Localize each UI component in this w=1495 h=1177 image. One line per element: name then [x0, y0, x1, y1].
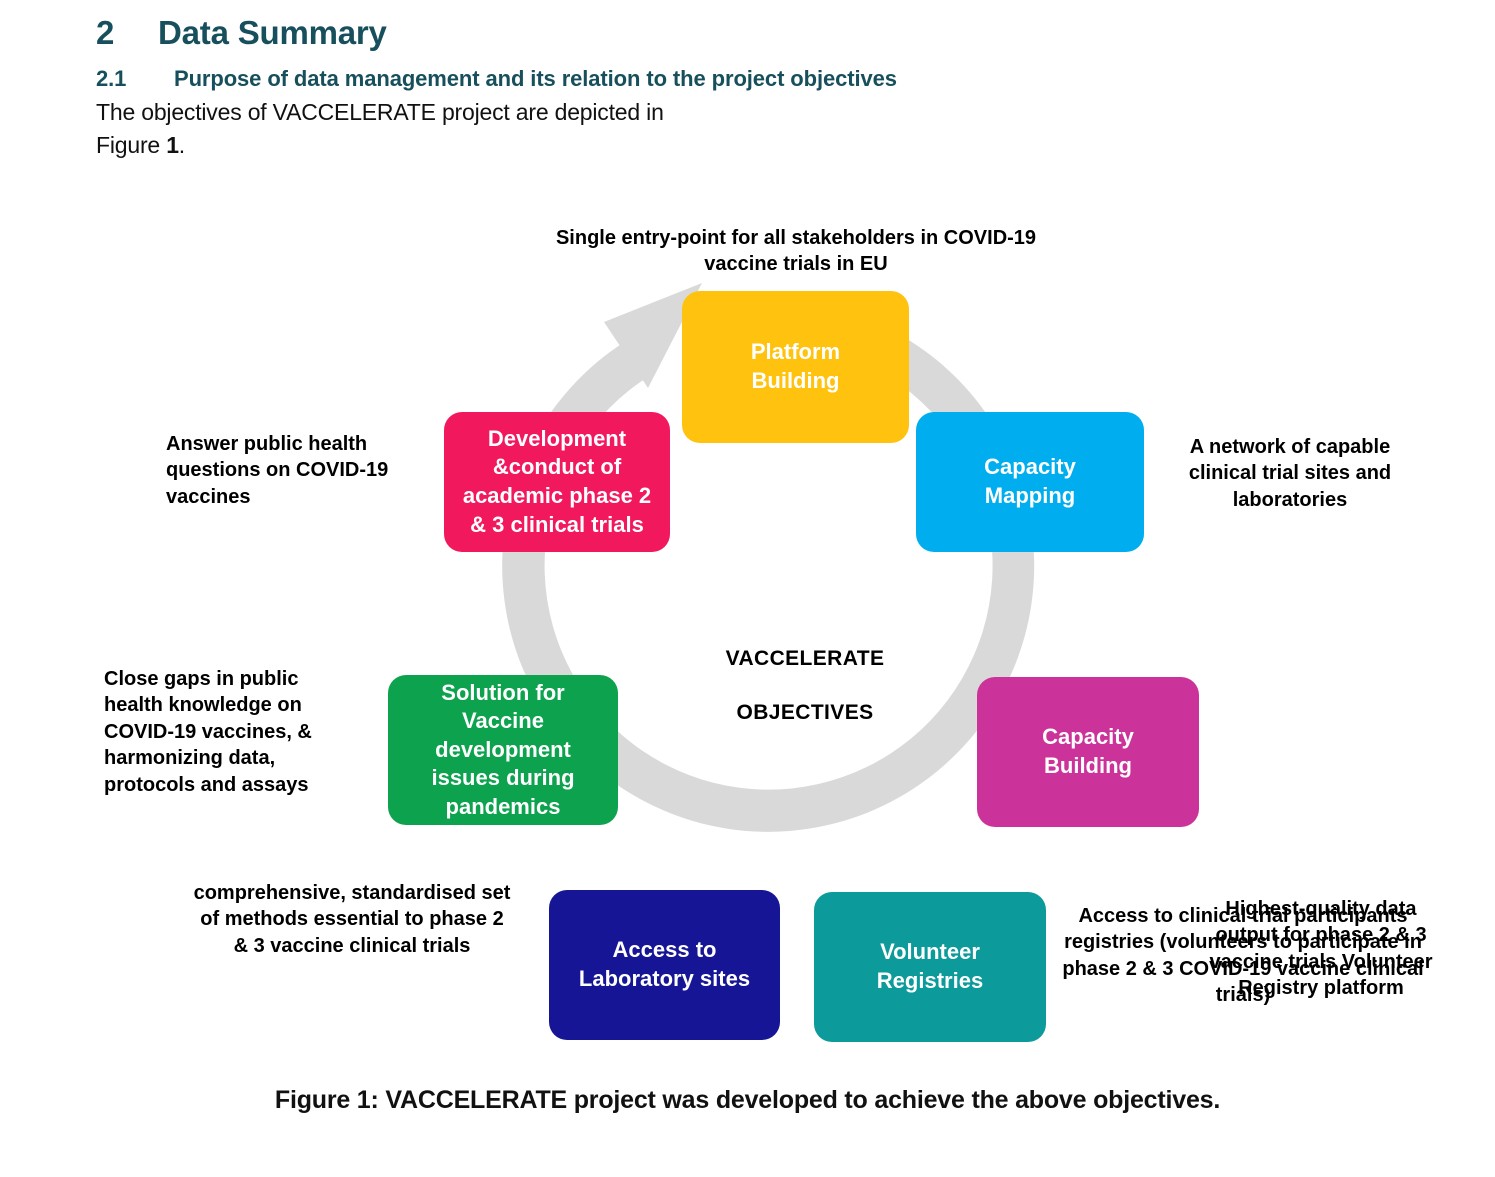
subsection-heading: 2.1 Purpose of data management and its r…	[96, 66, 1296, 92]
callout-access-laboratory-sites: comprehensive, standardised set of metho…	[192, 880, 512, 959]
node-capacity-building-label: Capacity Building	[1042, 723, 1134, 780]
node-capacity-building[interactable]: Capacity Building	[977, 677, 1199, 827]
node-solution-vaccine-development[interactable]: Solution for Vaccine development issues …	[388, 675, 618, 825]
node-development-conduct-trials[interactable]: Development &conduct of academic phase 2…	[444, 412, 670, 552]
document-heading-block: 2 Data Summary 2.1 Purpose of data manag…	[96, 14, 1296, 159]
node-solution-vaccine-development-label: Solution for Vaccine development issues …	[431, 679, 574, 822]
center-label-line-1: VACCELERATE	[726, 647, 885, 670]
callout-capacity-mapping: A network of capable clinical trial site…	[1155, 434, 1425, 513]
vaccelerate-objectives-cycle-diagram: Platform Building Single entry-point for…	[0, 200, 1495, 1080]
section-number: 2	[96, 14, 158, 52]
node-volunteer-registries-label: Volunteer Registries	[877, 938, 983, 995]
callout-development-conduct-trials: Answer public health questions on COVID-…	[166, 431, 426, 510]
node-capacity-mapping-label: Capacity Mapping	[984, 453, 1076, 510]
node-platform-building-label: Platform Building	[751, 338, 840, 395]
node-platform-building[interactable]: Platform Building	[682, 291, 909, 443]
subsection-number: 2.1	[96, 66, 174, 92]
node-access-laboratory-sites-label: Access to Laboratory sites	[579, 936, 750, 993]
figure-ref-prefix: Figure	[96, 132, 166, 158]
body-paragraph-line-2: Figure 1.	[96, 132, 1296, 159]
section-title: Data Summary	[158, 14, 387, 52]
figure-ref-suffix: .	[179, 132, 185, 158]
node-access-laboratory-sites[interactable]: Access to Laboratory sites	[549, 890, 780, 1040]
section-heading: 2 Data Summary	[96, 14, 1296, 52]
body-paragraph-line-1: The objectives of VACCELERATE project ar…	[96, 99, 1296, 126]
node-volunteer-registries[interactable]: Volunteer Registries	[814, 892, 1046, 1042]
node-development-conduct-trials-label: Development &conduct of academic phase 2…	[463, 425, 651, 539]
center-label-line-2: OBJECTIVES	[645, 701, 965, 725]
diagram-center-label: VACCELERATE OBJECTIVES	[645, 647, 965, 725]
callout-volunteer-registries: Access to clinical trial participants re…	[1043, 903, 1443, 1009]
node-capacity-mapping[interactable]: Capacity Mapping	[916, 412, 1144, 552]
figure-caption: Figure 1: VACCELERATE project was develo…	[0, 1086, 1495, 1115]
callout-solution-vaccine-development: Close gaps in public health knowledge on…	[104, 666, 354, 798]
callout-platform-building: Single entry-point for all stakeholders …	[546, 225, 1046, 278]
subsection-title: Purpose of data management and its relat…	[174, 66, 897, 92]
figure-ref-number: 1	[166, 132, 179, 158]
